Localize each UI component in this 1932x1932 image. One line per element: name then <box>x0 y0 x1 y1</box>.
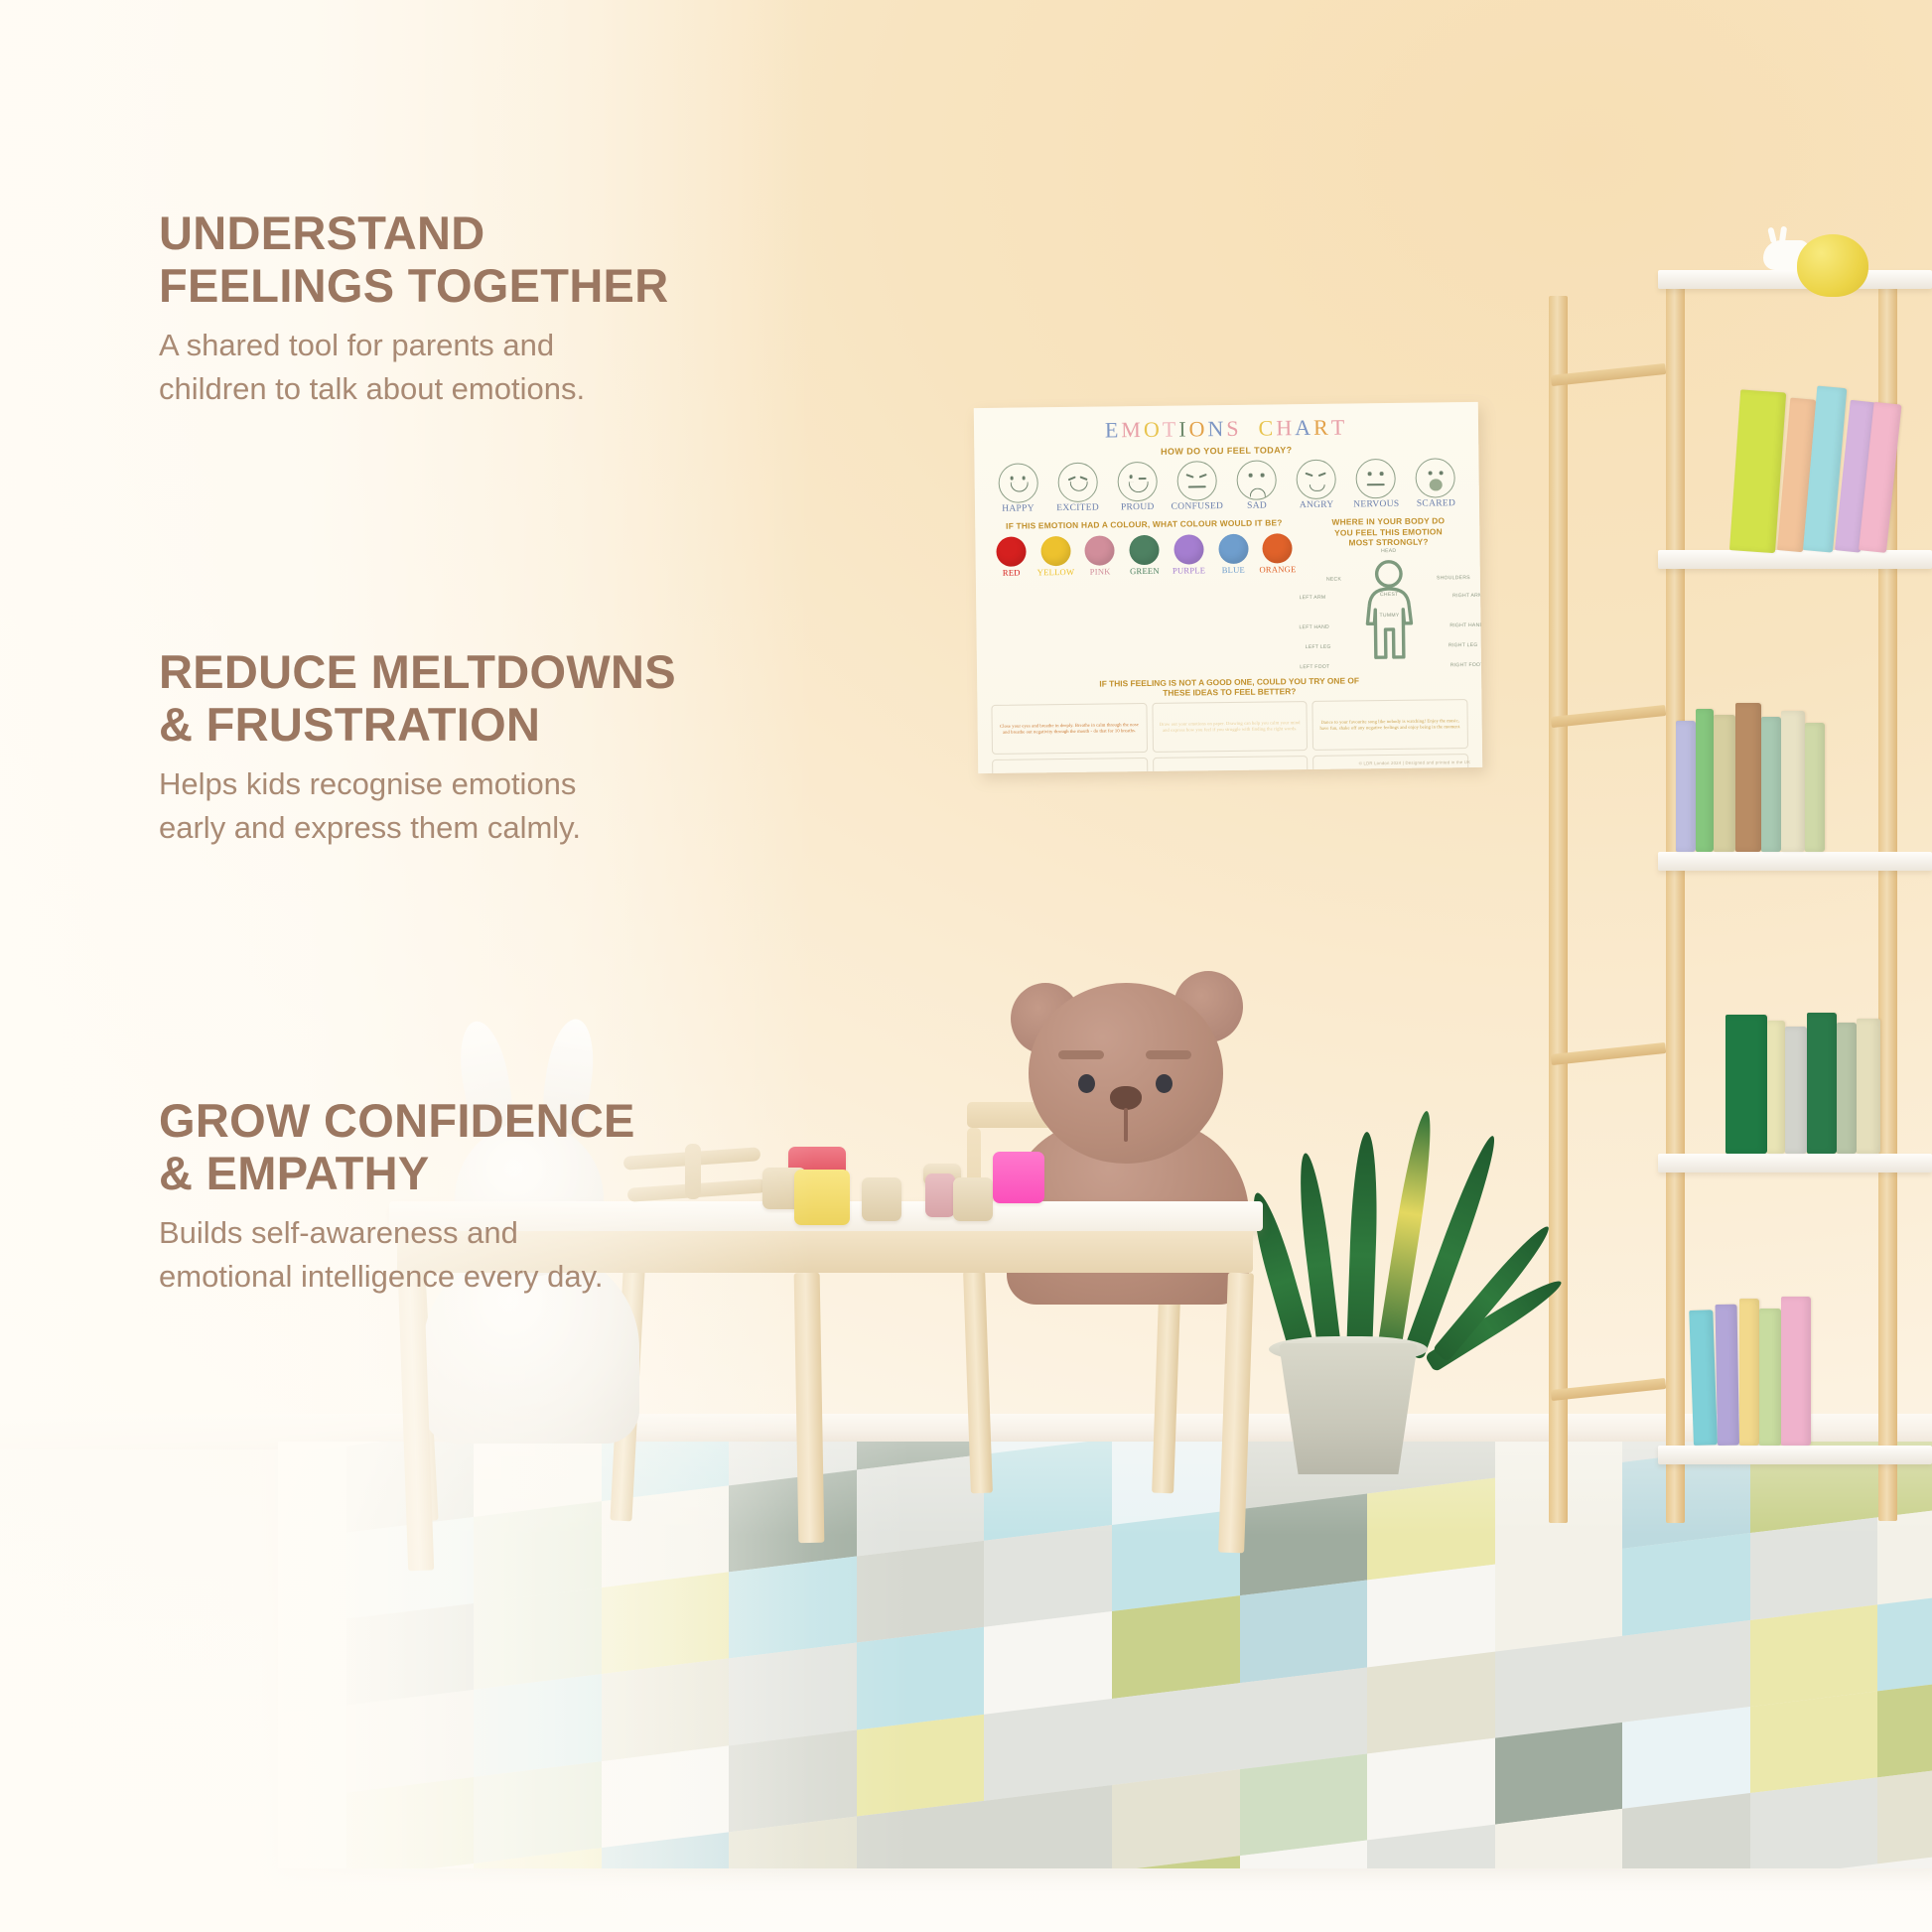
face-eye <box>1380 472 1384 476</box>
shelf-brace-2 <box>1551 705 1667 728</box>
face-circle-icon <box>1057 463 1097 502</box>
book <box>1725 1015 1767 1154</box>
shelf-board-3 <box>1658 1154 1932 1173</box>
emotion-face-label: EXCITED <box>1050 503 1105 514</box>
face-mouth <box>1250 488 1266 497</box>
wooden-ladder-bookshelf <box>1549 274 1932 1525</box>
poster-title-letter: C <box>1258 415 1276 441</box>
colour-swatch-label: YELLOW <box>1034 566 1077 577</box>
poster-title-letter: O <box>1144 417 1163 443</box>
body-label-tummy: TUMMY <box>1379 613 1399 619</box>
book <box>1689 1310 1718 1446</box>
body-label-shoulders: SHOULDERS <box>1437 575 1470 581</box>
body-label-left-foot: LEFT FOOT <box>1300 663 1329 669</box>
emotions-chart-poster[interactable]: EMOTIONS CHART HOW DO YOU FEEL TODAY? HA… <box>974 402 1482 773</box>
letter-block-x <box>862 1177 901 1221</box>
shelf-board-top <box>1658 270 1932 289</box>
poster-title-letter: O <box>1188 416 1207 442</box>
book <box>1785 1027 1807 1154</box>
face-stroke <box>1199 474 1207 478</box>
teddy-nose <box>1110 1086 1142 1110</box>
poster-body-question: WHERE IN YOUR BODY DO YOU FEEL THIS EMOT… <box>1309 515 1467 548</box>
body-label-left-arm: LEFT ARM <box>1300 595 1326 601</box>
emotion-face-angry[interactable]: ANGRY <box>1289 460 1344 511</box>
face-circle-icon <box>1117 462 1157 501</box>
emotion-face-excited[interactable]: EXCITED <box>1050 463 1106 514</box>
emotion-face-happy[interactable]: HAPPY <box>990 463 1045 514</box>
face-eye <box>1440 471 1444 475</box>
face-circle-icon <box>998 463 1037 502</box>
body-diagram: HEADNECKSHOULDERSLEFT ARMCHESTRIGHT ARMT… <box>1310 549 1469 670</box>
face-stroke <box>1306 473 1313 477</box>
feature-headline: UNDERSTAND FEELINGS TOGETHER <box>159 207 668 312</box>
poster-title-letter: M <box>1121 417 1144 443</box>
poster-title: EMOTIONS CHART <box>986 413 1466 445</box>
face-eye <box>1129 475 1133 479</box>
shelf-post-left <box>1549 296 1568 1523</box>
book <box>1781 711 1805 852</box>
face-eye <box>1010 477 1014 481</box>
book <box>1761 717 1781 852</box>
poster-title-letter <box>1241 416 1258 442</box>
feature-headline: GROW CONFIDENCE & EMPATHY <box>159 1094 635 1199</box>
emotion-face-sad[interactable]: SAD <box>1229 460 1285 511</box>
book <box>1837 1023 1857 1154</box>
body-label-right-leg: RIGHT LEG <box>1449 642 1478 648</box>
shelf-board-4 <box>1658 1446 1932 1464</box>
letter-block-o <box>953 1177 993 1221</box>
colour-swatch-label: PURPLE <box>1168 565 1211 576</box>
shelf-brace-4 <box>1551 1378 1667 1401</box>
colour-swatch-label: BLUE <box>1211 564 1255 575</box>
coping-idea-2[interactable]: Draw out your emotions on paper. Drawing… <box>1152 701 1308 753</box>
emotion-face-label: HAPPY <box>991 503 1045 514</box>
emotion-face-nervous[interactable]: NERVOUS <box>1348 459 1404 510</box>
poster-title-letter: R <box>1313 415 1331 441</box>
face-open-mouth <box>1430 479 1443 490</box>
face-circle-icon <box>1416 458 1455 497</box>
emotion-face-proud[interactable]: PROUD <box>1110 462 1166 513</box>
face-eye <box>1249 474 1253 478</box>
poster-title-letter: E <box>1105 417 1122 443</box>
poster-title-letter: S <box>1226 416 1242 442</box>
colour-swatch-dot <box>1263 533 1293 563</box>
book <box>1781 1297 1811 1446</box>
book <box>1739 1299 1759 1446</box>
body-label-chest: CHEST <box>1380 591 1399 597</box>
book <box>1716 1305 1739 1446</box>
face-circle-icon <box>1356 459 1396 498</box>
colour-swatch-label: PINK <box>1078 566 1122 577</box>
poster-title-letter: H <box>1276 415 1295 441</box>
body-label-right-arm: RIGHT ARM <box>1452 593 1482 599</box>
body-label-left-hand: LEFT HAND <box>1299 624 1329 630</box>
colour-swatch-yellow[interactable]: YELLOW <box>1034 535 1077 577</box>
letter-block-g <box>925 1173 955 1217</box>
lemon-shell-ornament-icon <box>1797 234 1868 297</box>
poster-colour-question: IF THIS EMOTION HAD A COLOUR, WHAT COLOU… <box>987 517 1301 531</box>
colour-swatch-red[interactable]: RED <box>989 536 1033 578</box>
shelf-brace-1 <box>1551 363 1667 386</box>
face-circle-icon <box>1297 460 1336 499</box>
colour-swatch-dot <box>996 536 1026 566</box>
colour-swatch-green[interactable]: GREEN <box>1122 534 1166 576</box>
poster-title-letter: A <box>1295 415 1313 441</box>
poster-title-letter: I <box>1178 416 1189 442</box>
colour-swatch-orange[interactable]: ORANGE <box>1256 533 1300 575</box>
face-eye <box>1261 474 1265 478</box>
plant-pot <box>1279 1343 1418 1474</box>
book <box>1735 703 1761 852</box>
face-circle-icon <box>1176 461 1216 500</box>
feature-block-understand: UNDERSTAND FEELINGS TOGETHER A shared to… <box>159 207 668 411</box>
coping-idea-4[interactable]: Write down your worries to get them out … <box>992 758 1148 773</box>
shelf-board-2 <box>1658 852 1932 871</box>
colour-swatch-dot <box>1129 534 1159 564</box>
face-eye <box>1429 471 1433 475</box>
face-stroke <box>1188 485 1206 487</box>
teddy-brow-right <box>1146 1050 1191 1059</box>
body-label-right-foot: RIGHT FOOT <box>1450 661 1482 667</box>
feature-headline: REDUCE MELTDOWNS & FRUSTRATION <box>159 645 676 751</box>
emotion-face-label: ANGRY <box>1290 500 1344 511</box>
emotion-face-label: NERVOUS <box>1349 499 1404 510</box>
emotion-face-confused[interactable]: CONFUSED <box>1170 461 1225 512</box>
poster-title-letter: T <box>1163 417 1179 443</box>
colour-swatch-pink[interactable]: PINK <box>1078 535 1122 577</box>
face-stroke <box>1318 472 1326 476</box>
body-label-right-hand: RIGHT HAND <box>1449 622 1482 628</box>
poster-ideas-question: IF THIS FEELING IS NOT A GOOD ONE, COULD… <box>989 674 1469 702</box>
coping-idea-1[interactable]: Close your eyes and breathe in deeply. B… <box>991 703 1147 755</box>
body-label-head: HEAD <box>1381 548 1396 554</box>
colour-swatch-row: REDYELLOWPINKGREENPURPLEBLUEORANGE <box>987 533 1302 578</box>
teddy-snout-line <box>1124 1108 1128 1142</box>
book <box>1807 1013 1837 1154</box>
body-label-left-leg: LEFT LEG <box>1306 644 1331 650</box>
face-mouth <box>1010 482 1028 491</box>
teddy-head <box>1029 983 1223 1164</box>
face-stroke <box>1138 478 1146 480</box>
colour-swatch-label: ORANGE <box>1256 564 1300 575</box>
poster-title-letter: T <box>1331 415 1348 441</box>
feature-block-reduce: REDUCE MELTDOWNS & FRUSTRATION Helps kid… <box>159 645 676 850</box>
teddy-brow-left <box>1058 1050 1104 1059</box>
emotion-face-label: PROUD <box>1110 502 1165 513</box>
face-eye <box>1022 476 1026 480</box>
emotion-face-row: HAPPYEXCITEDPROUDCONFUSEDSADANGRYNERVOUS… <box>986 458 1467 514</box>
feature-block-grow: GROW CONFIDENCE & EMPATHY Builds self-aw… <box>159 1094 635 1299</box>
face-circle-icon <box>1236 460 1276 499</box>
emotion-face-label: CONFUSED <box>1170 501 1224 512</box>
feature-subtext: Builds self-awareness and emotional inte… <box>159 1211 635 1299</box>
teddy-eye-left <box>1078 1074 1095 1093</box>
book <box>1805 723 1825 852</box>
book <box>1676 721 1696 852</box>
emotion-face-scared[interactable]: SCARED <box>1408 458 1463 509</box>
book <box>1729 389 1786 553</box>
face-stroke <box>1079 476 1087 480</box>
colour-swatch-dot <box>1218 533 1248 563</box>
face-stroke <box>1367 483 1385 485</box>
block-pink <box>993 1152 1044 1203</box>
poster-question-today: HOW DO YOU FEEL TODAY? <box>986 443 1466 459</box>
book <box>1857 1019 1880 1154</box>
body-figure-icon <box>1358 559 1421 663</box>
chair-leg <box>963 1271 993 1494</box>
colour-swatch-dot <box>1173 534 1203 564</box>
face-stroke <box>1067 476 1075 480</box>
teddy-eye-right <box>1156 1074 1173 1093</box>
emotion-face-label: SAD <box>1229 500 1284 511</box>
feature-subtext: A shared tool for parents and children t… <box>159 324 668 411</box>
colour-swatch-blue[interactable]: BLUE <box>1211 533 1255 575</box>
shelf-post-inner-left <box>1666 274 1685 1523</box>
shelf-brace-3 <box>1551 1042 1667 1065</box>
colour-swatch-dot <box>1040 535 1070 565</box>
book <box>1714 715 1735 852</box>
face-eye <box>1368 472 1372 476</box>
face-mouth <box>1310 484 1325 491</box>
face-stroke <box>1186 474 1194 478</box>
body-label-neck: NECK <box>1326 576 1341 582</box>
book <box>1767 1021 1785 1154</box>
shelf-board-1 <box>1658 550 1932 569</box>
coping-idea-3[interactable]: Dance to your favourite song like nobody… <box>1312 699 1468 751</box>
emotion-face-label: SCARED <box>1409 498 1463 509</box>
colour-swatch-label: RED <box>990 567 1034 578</box>
colour-swatch-purple[interactable]: PURPLE <box>1167 534 1210 576</box>
feature-subtext: Helps kids recognise emotions early and … <box>159 762 676 850</box>
colour-swatch-label: GREEN <box>1123 565 1167 576</box>
book <box>1696 709 1714 852</box>
book <box>1759 1309 1781 1446</box>
face-mouth <box>1069 482 1087 491</box>
poster-title-letter: N <box>1207 416 1226 442</box>
colour-swatch-dot <box>1085 535 1115 565</box>
face-mouth <box>1128 482 1148 492</box>
scene-canvas: EMOTIONS CHART HOW DO YOU FEEL TODAY? HA… <box>0 0 1932 1932</box>
